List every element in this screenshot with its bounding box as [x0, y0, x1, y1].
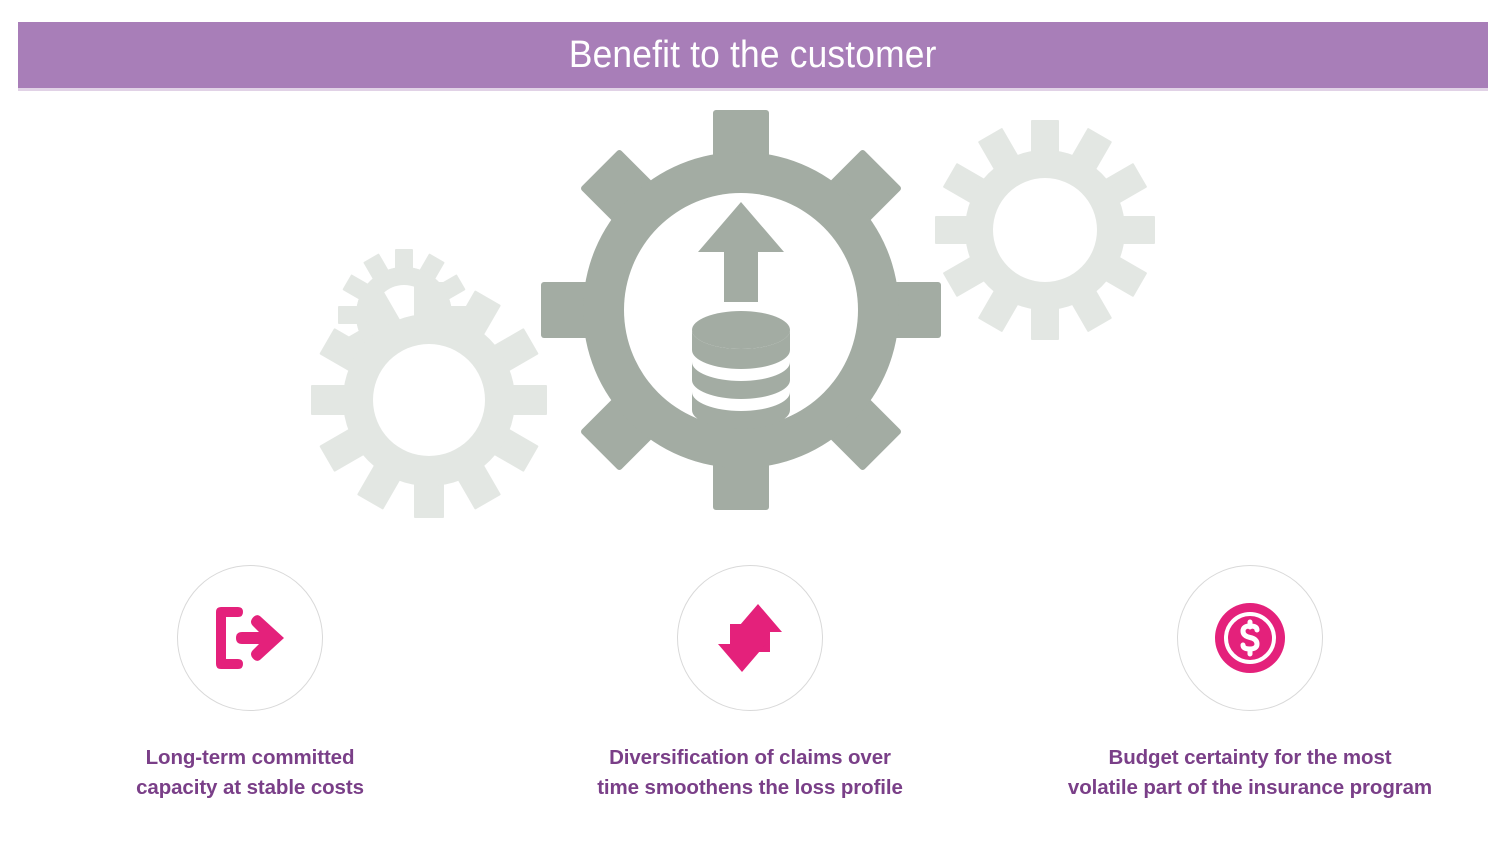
benefits-row: Long-term committed capacity at stable c…: [0, 565, 1500, 845]
hero-illustration: [0, 100, 1500, 545]
benefit-caption-2-line1: Diversification of claims over: [609, 746, 891, 769]
up-down-arrows-icon: [702, 590, 798, 686]
benefit-caption-3-line1: Budget certainty for the most: [1108, 746, 1391, 769]
page-title: Benefit to the customer: [569, 36, 937, 74]
benefit-icon-circle-3: [1177, 565, 1323, 711]
benefit-item-diversification: Diversification of claims over time smoo…: [500, 565, 1000, 845]
gears-illustration-svg: [0, 100, 1500, 545]
benefit-caption-1-line2: capacity at stable costs: [136, 776, 364, 799]
header-banner: Benefit to the customer: [18, 22, 1488, 88]
benefit-caption-3: Budget certainty for the most volatile p…: [1068, 743, 1432, 803]
benefit-item-budget-certainty: Budget certainty for the most volatile p…: [1000, 565, 1500, 845]
dollar-coin-icon: [1202, 590, 1298, 686]
benefit-caption-2: Diversification of claims over time smoo…: [597, 743, 903, 803]
benefit-caption-3-line2: volatile part of the insurance program: [1068, 776, 1432, 799]
gear-main-icon: [541, 110, 941, 510]
benefit-caption-2-line2: time smoothens the loss profile: [597, 776, 903, 799]
login-arrow-into-bracket-icon: [202, 590, 298, 686]
benefit-caption-1: Long-term committed capacity at stable c…: [136, 743, 364, 803]
gear-right-icon: [935, 120, 1155, 340]
benefit-item-long-term-capacity: Long-term committed capacity at stable c…: [0, 565, 500, 845]
benefit-icon-circle-2: [677, 565, 823, 711]
benefit-icon-circle-1: [177, 565, 323, 711]
benefit-caption-1-line1: Long-term committed: [146, 746, 355, 769]
